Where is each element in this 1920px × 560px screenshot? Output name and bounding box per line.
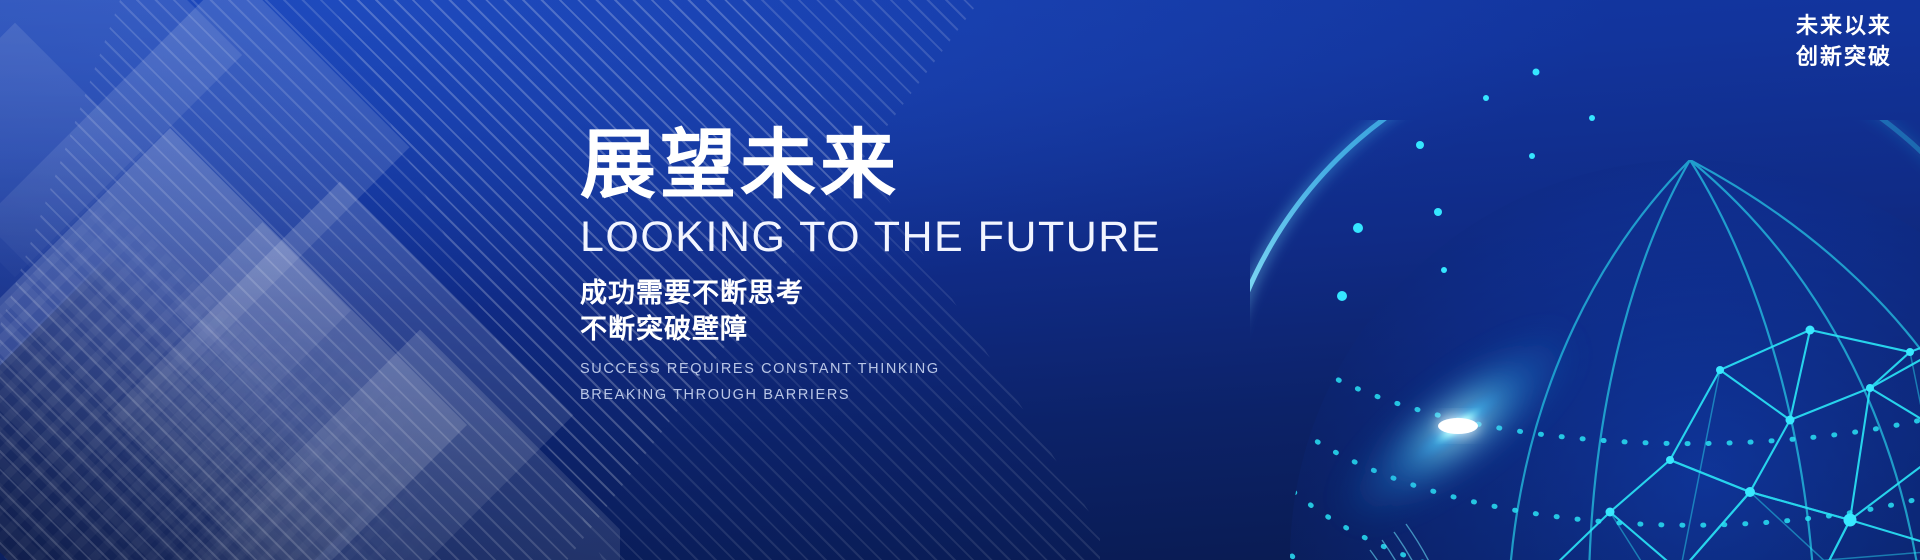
tagline-en: SUCCESS REQUIRES CONSTANT THINKING BREAK… — [580, 357, 1200, 408]
corner-slogan-line1: 未来以来 — [1796, 10, 1892, 41]
headline-block: 展望未来 LOOKING TO THE FUTURE 成功需要不断思考 不断突破… — [580, 128, 1200, 408]
page-title: 展望未来 — [580, 128, 1200, 204]
tagline-cn-line2: 不断突破壁障 — [580, 311, 1200, 347]
tagline-cn: 成功需要不断思考 不断突破壁障 — [580, 275, 1200, 347]
page-subtitle-en: LOOKING TO THE FUTURE — [580, 216, 1200, 259]
tagline-cn-line1: 成功需要不断思考 — [580, 275, 1200, 311]
tagline-en-line2: BREAKING THROUGH BARRIERS — [580, 383, 1200, 408]
hero-banner: 展望未来 LOOKING TO THE FUTURE 成功需要不断思考 不断突破… — [0, 0, 1920, 560]
corner-slogan-line2: 创新突破 — [1796, 41, 1892, 72]
corner-slogan: 未来以来 创新突破 — [1796, 10, 1892, 72]
ambient-particles — [1340, 60, 1700, 400]
tagline-en-line1: SUCCESS REQUIRES CONSTANT THINKING — [580, 357, 1200, 382]
